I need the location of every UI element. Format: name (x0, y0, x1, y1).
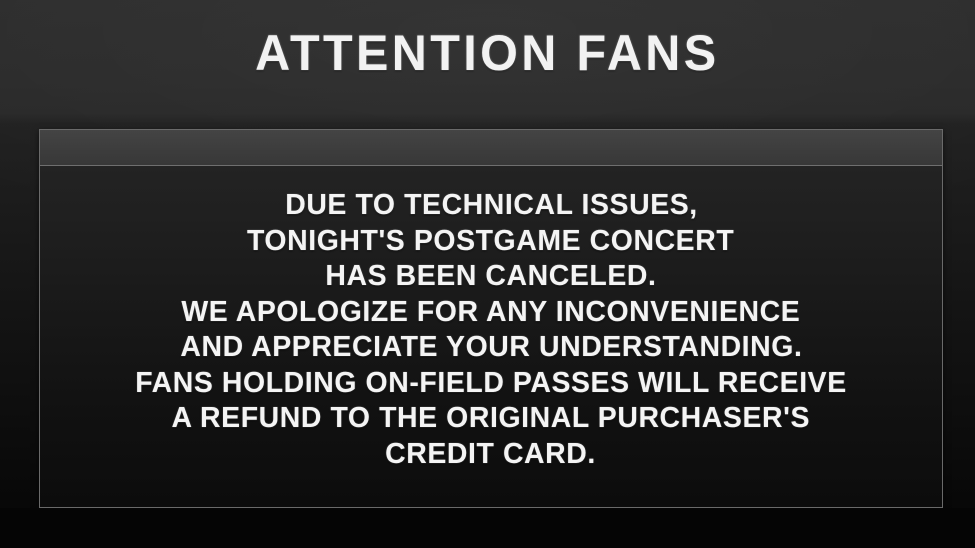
message-line: DUE TO TECHNICAL ISSUES, (285, 188, 698, 224)
message-line: AND APPRECIATE YOUR UNDERSTANDING. (180, 330, 802, 366)
message-line: CREDIT CARD. (386, 437, 597, 473)
page-title: ATTENTION FANS (255, 28, 719, 78)
message-line: FANS HOLDING ON-FIELD PASSES WILL RECEIV… (135, 366, 847, 402)
board-message-body: DUE TO TECHNICAL ISSUES, TONIGHT'S POSTG… (40, 166, 942, 507)
page-title-row: ATTENTION FANS (0, 28, 975, 78)
message-line: A REFUND TO THE ORIGINAL PURCHASER'S (172, 401, 810, 437)
board-header-bar (40, 130, 942, 166)
letterbox-bottom-bar (0, 508, 975, 548)
message-line: HAS BEEN CANCELED. (325, 259, 656, 295)
announcement-screen: ATTENTION FANS DUE TO TECHNICAL ISSUES, … (0, 0, 975, 548)
message-line: WE APOLOGIZE FOR ANY INCONVENIENCE (182, 295, 801, 331)
announcement-board: DUE TO TECHNICAL ISSUES, TONIGHT'S POSTG… (39, 129, 943, 508)
message-line: TONIGHT'S POSTGAME CONCERT (247, 224, 734, 260)
